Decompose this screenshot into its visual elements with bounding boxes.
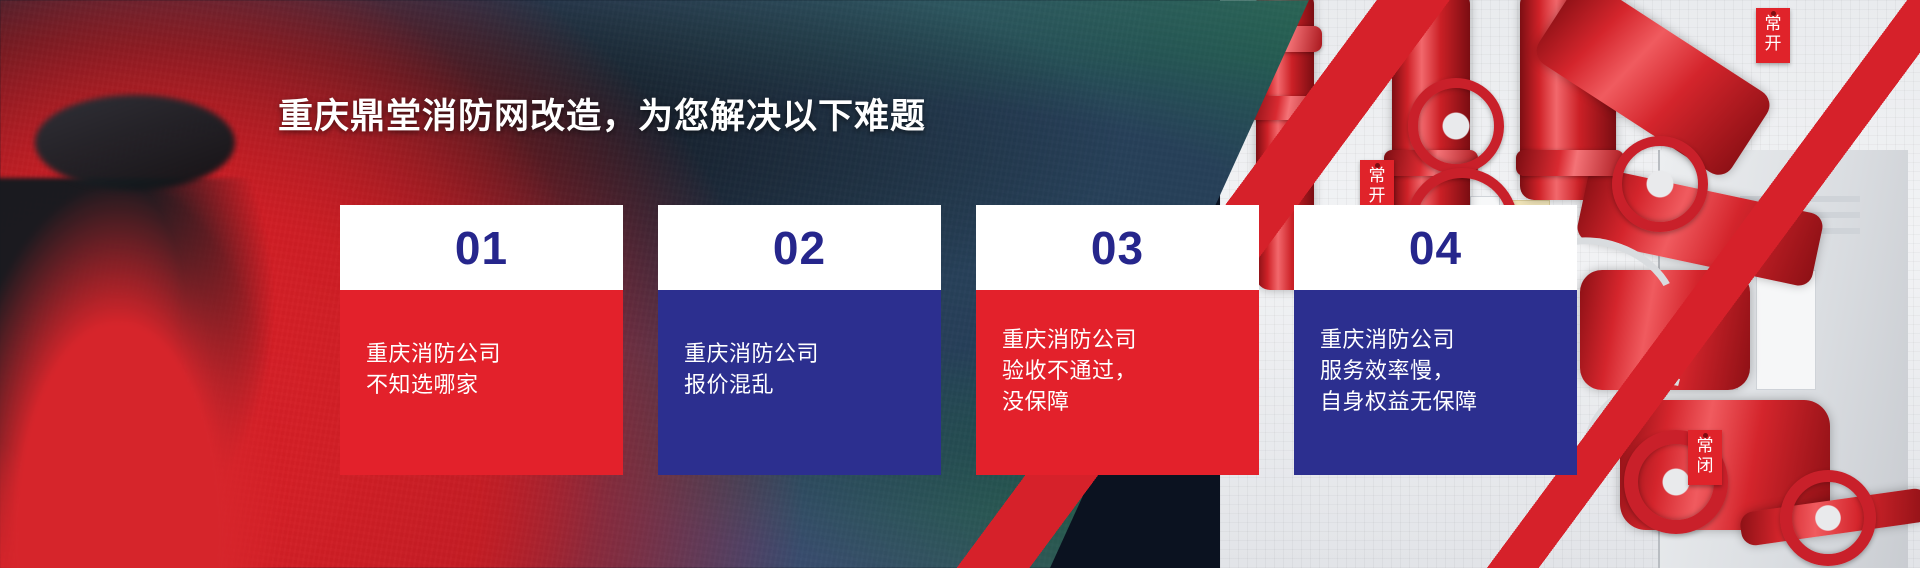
card-text-line: 报价混乱 (684, 369, 915, 400)
valve-handwheel (1612, 136, 1708, 232)
card-text-line: 重庆消防公司 (366, 338, 597, 369)
card-text-line: 重庆消防公司 (1002, 324, 1233, 355)
card-text-line: 不知选哪家 (366, 369, 597, 400)
card-text: 重庆消防公司 报价混乱 (658, 290, 941, 475)
status-tag-chang-bi: 常闭 (1688, 430, 1722, 485)
problem-card-03[interactable]: 03 重庆消防公司 验收不通过， 没保障 (976, 205, 1259, 475)
card-text-line: 自身权益无保障 (1320, 386, 1551, 417)
card-number: 01 (340, 205, 623, 290)
status-tag-chang-kai: 常开 (1756, 8, 1790, 63)
card-text: 重庆消防公司 验收不通过， 没保障 (976, 290, 1259, 475)
problem-card-02[interactable]: 02 重庆消防公司 报价混乱 (658, 205, 941, 475)
problem-card-04[interactable]: 04 重庆消防公司 服务效率慢， 自身权益无保障 (1294, 205, 1577, 475)
problem-card-01[interactable]: 01 重庆消防公司 不知选哪家 (340, 205, 623, 475)
problem-card-list: 01 重庆消防公司 不知选哪家 02 重庆消防公司 报价混乱 03 重庆消防公司… (340, 205, 1577, 475)
card-text-line: 验收不通过， (1002, 355, 1233, 386)
card-text-line: 没保障 (1002, 386, 1233, 417)
hydrant-cap (35, 95, 235, 190)
card-text-line: 服务效率慢， (1320, 355, 1551, 386)
card-text: 重庆消防公司 服务效率慢， 自身权益无保障 (1294, 290, 1577, 475)
card-number: 03 (976, 205, 1259, 290)
valve-handwheel (1780, 470, 1876, 566)
card-text: 重庆消防公司 不知选哪家 (340, 290, 623, 475)
card-number: 02 (658, 205, 941, 290)
card-text-line: 重庆消防公司 (1320, 324, 1551, 355)
card-number: 04 (1294, 205, 1577, 290)
fire-hydrant-silhouette (0, 178, 290, 568)
valve-handwheel (1408, 78, 1504, 174)
card-text-line: 重庆消防公司 (684, 338, 915, 369)
page-title: 重庆鼎堂消防网改造，为您解决以下难题 (278, 88, 1378, 139)
promo-banner: 常开 常开 常闭 常闭 重庆鼎堂消防网改造，为您解决以下难题 01 重庆消防公司… (0, 0, 1920, 568)
